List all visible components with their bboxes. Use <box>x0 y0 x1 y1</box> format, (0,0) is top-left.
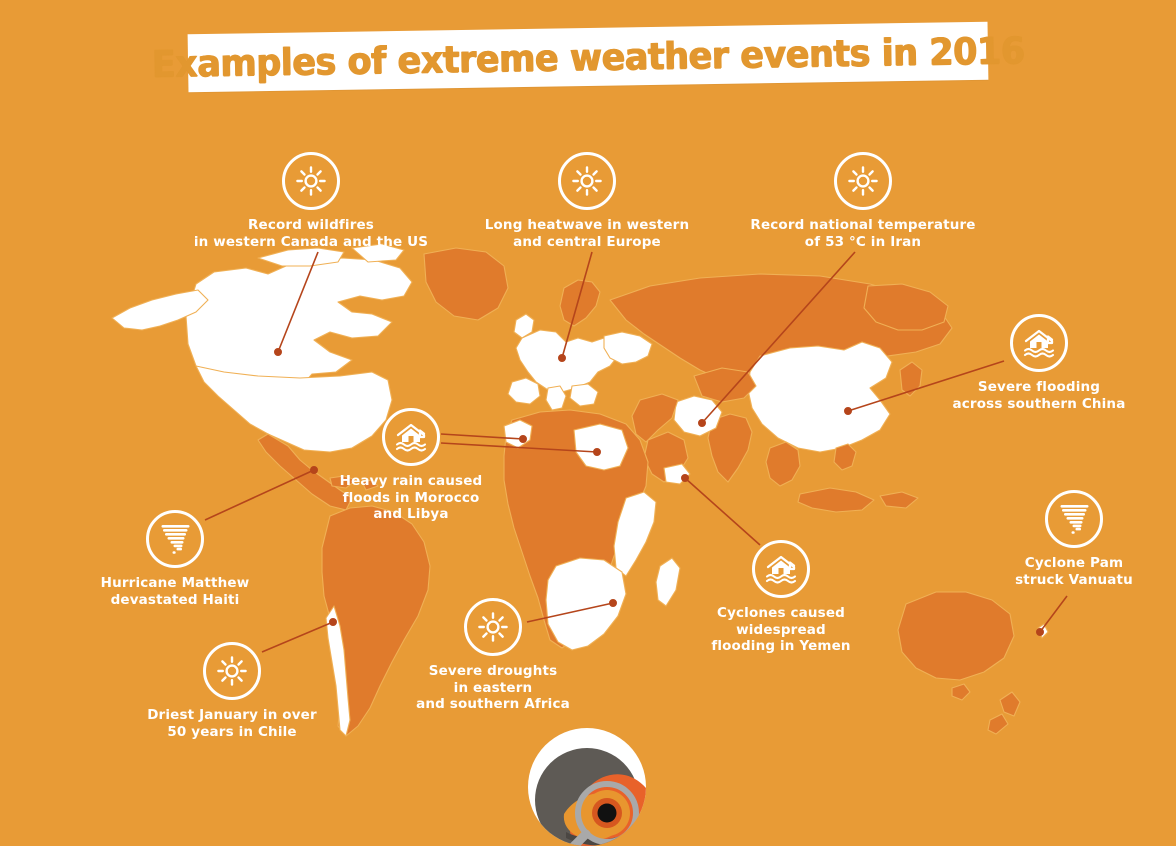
logo-eye-pupil <box>598 804 617 823</box>
infographic-stage: Examples of extreme weather events in 20… <box>0 0 1176 804</box>
callout-label-flooding-southern-china: Severe flooding across southern China <box>953 379 1126 412</box>
dot-vanuatu <box>1037 629 1043 635</box>
line-yemen <box>685 478 760 545</box>
callout-label-droughts-africa: Severe droughts in eastern and southern … <box>416 663 570 713</box>
dot-wildfires <box>275 349 281 355</box>
callout-label-heatwave-europe: Long heatwave in western and central Eur… <box>485 217 690 250</box>
callout-driest-january-chile[interactable]: Driest January in over 50 years in Chile <box>82 642 382 740</box>
callout-label-floods-morocco-libya: Heavy rain caused floods in Morocco and … <box>340 473 483 523</box>
callout-label-cyclones-flooding-yemen: Cyclones caused widespread flooding in Y… <box>711 605 850 655</box>
sun-icon[interactable] <box>834 152 892 210</box>
chameleon-magnifier-logo <box>528 728 646 846</box>
line-wildfires <box>278 252 318 352</box>
dot-china <box>845 408 851 414</box>
tornado-icon[interactable] <box>1045 490 1103 548</box>
callout-droughts-africa[interactable]: Severe droughts in eastern and southern … <box>343 598 643 713</box>
callout-floods-morocco-libya[interactable]: Heavy rain caused floods in Morocco and … <box>261 408 561 523</box>
dot-libya <box>594 449 600 455</box>
sun-icon[interactable] <box>464 598 522 656</box>
callout-flooding-southern-china[interactable]: Severe flooding across southern China <box>889 314 1176 412</box>
callout-cyclones-flooding-yemen[interactable]: Cyclones caused widespread flooding in Y… <box>631 540 931 655</box>
tornado-icon[interactable] <box>146 510 204 568</box>
callout-record-temperature-iran[interactable]: Record national temperature of 53 °C in … <box>713 152 1013 250</box>
dot-iran <box>699 420 705 426</box>
callout-heatwave-europe[interactable]: Long heatwave in western and central Eur… <box>437 152 737 250</box>
callout-hurricane-matthew-haiti[interactable]: Hurricane Matthew devastated Haiti <box>25 510 325 608</box>
callout-label-cyclone-pam-vanuatu: Cyclone Pam struck Vanuatu <box>1015 555 1133 588</box>
line-vanuatu <box>1040 596 1067 632</box>
flood-house-icon[interactable] <box>1010 314 1068 372</box>
dot-chile <box>330 619 336 625</box>
callout-label-driest-january-chile: Driest January in over 50 years in Chile <box>147 707 317 740</box>
dot-heatwave-europe <box>559 355 565 361</box>
callout-label-wildfires-canada-us: Record wildfires in western Canada and t… <box>194 217 428 250</box>
callout-cyclone-pam-vanuatu[interactable]: Cyclone Pam struck Vanuatu <box>924 490 1176 588</box>
line-iran <box>702 252 855 423</box>
sun-icon[interactable] <box>282 152 340 210</box>
flood-house-icon[interactable] <box>382 408 440 466</box>
sun-icon[interactable] <box>558 152 616 210</box>
page-title: Examples of extreme weather events in 20… <box>151 29 1024 86</box>
sun-icon[interactable] <box>203 642 261 700</box>
line-heatwave-europe <box>562 252 592 358</box>
dot-yemen <box>682 475 688 481</box>
callout-label-hurricane-matthew-haiti: Hurricane Matthew devastated Haiti <box>101 575 250 608</box>
flood-house-icon[interactable] <box>752 540 810 598</box>
callout-wildfires-canada-us[interactable]: Record wildfires in western Canada and t… <box>161 152 461 250</box>
callout-label-record-temperature-iran: Record national temperature of 53 °C in … <box>750 217 975 250</box>
